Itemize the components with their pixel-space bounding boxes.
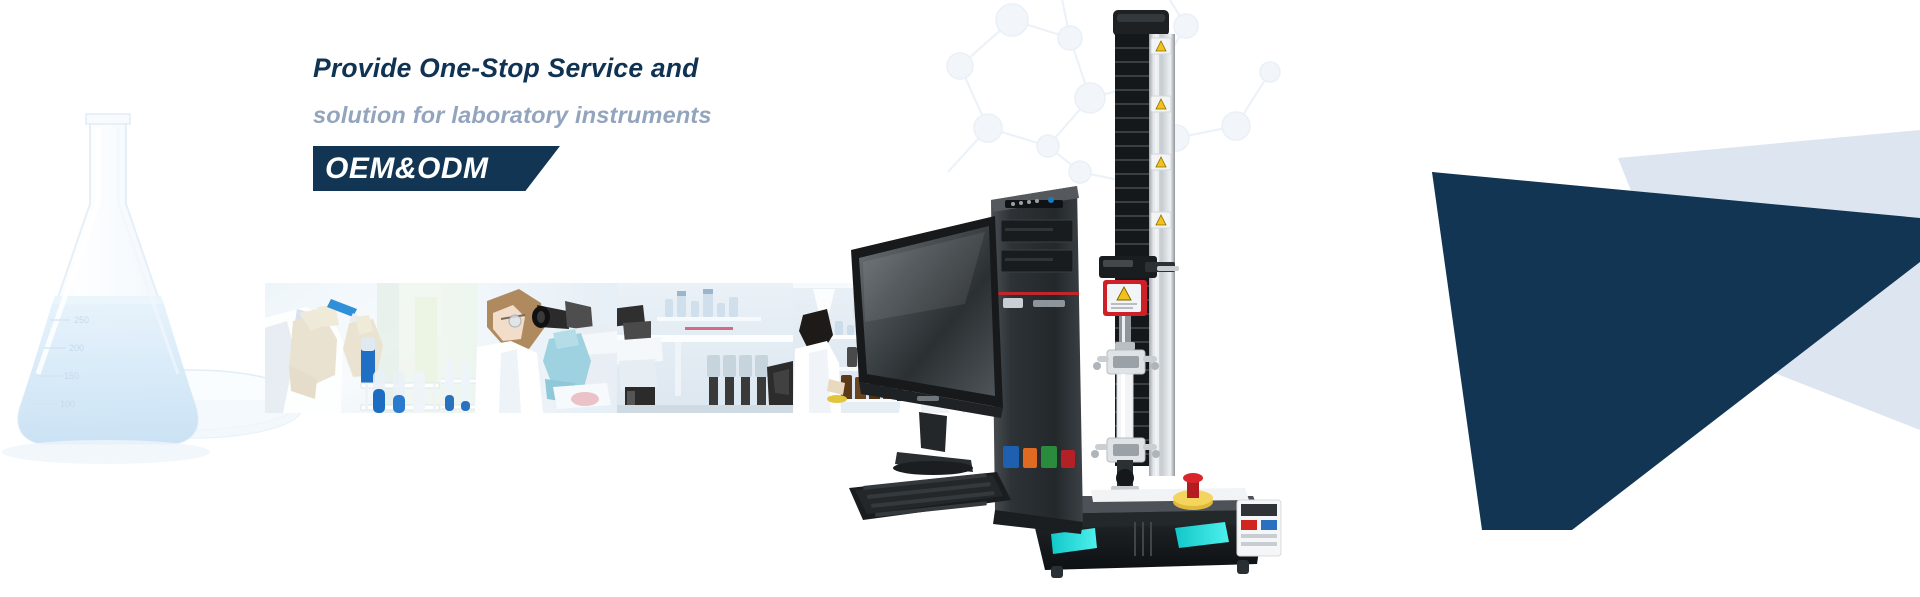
tower-case <box>991 186 1083 534</box>
svg-text:150: 150 <box>64 371 79 381</box>
list-item: Researcher using a microscope with blue … <box>441 283 617 413</box>
list-item: Laboratory bench with microscope and ins… <box>617 283 793 413</box>
corner-decoration <box>1220 130 1920 530</box>
keyboard <box>849 472 1011 520</box>
svg-text:200: 200 <box>69 343 84 353</box>
page-subtitle: solution for laboratory instruments <box>313 104 933 128</box>
page-title: Provide One-Stop Service and <box>313 55 933 82</box>
banner: 250 200 150 100 Provide One-Stop Service… <box>0 0 1920 597</box>
monitor <box>851 216 1003 475</box>
desktop-computer <box>849 186 1083 534</box>
svg-text:100: 100 <box>60 399 75 409</box>
product-illustration <box>845 4 1325 594</box>
list-item: Gloved hands pipetting blue reagent into… <box>265 283 441 413</box>
svg-text:250: 250 <box>74 315 89 325</box>
headline-group: Provide One-Stop Service and solution fo… <box>313 55 933 191</box>
badge-label: OEM&ODM <box>325 152 489 185</box>
oem-odm-badge: OEM&ODM <box>313 146 560 191</box>
load-cell <box>1103 280 1147 316</box>
erlenmeyer-flask: 250 200 150 100 <box>18 114 197 444</box>
